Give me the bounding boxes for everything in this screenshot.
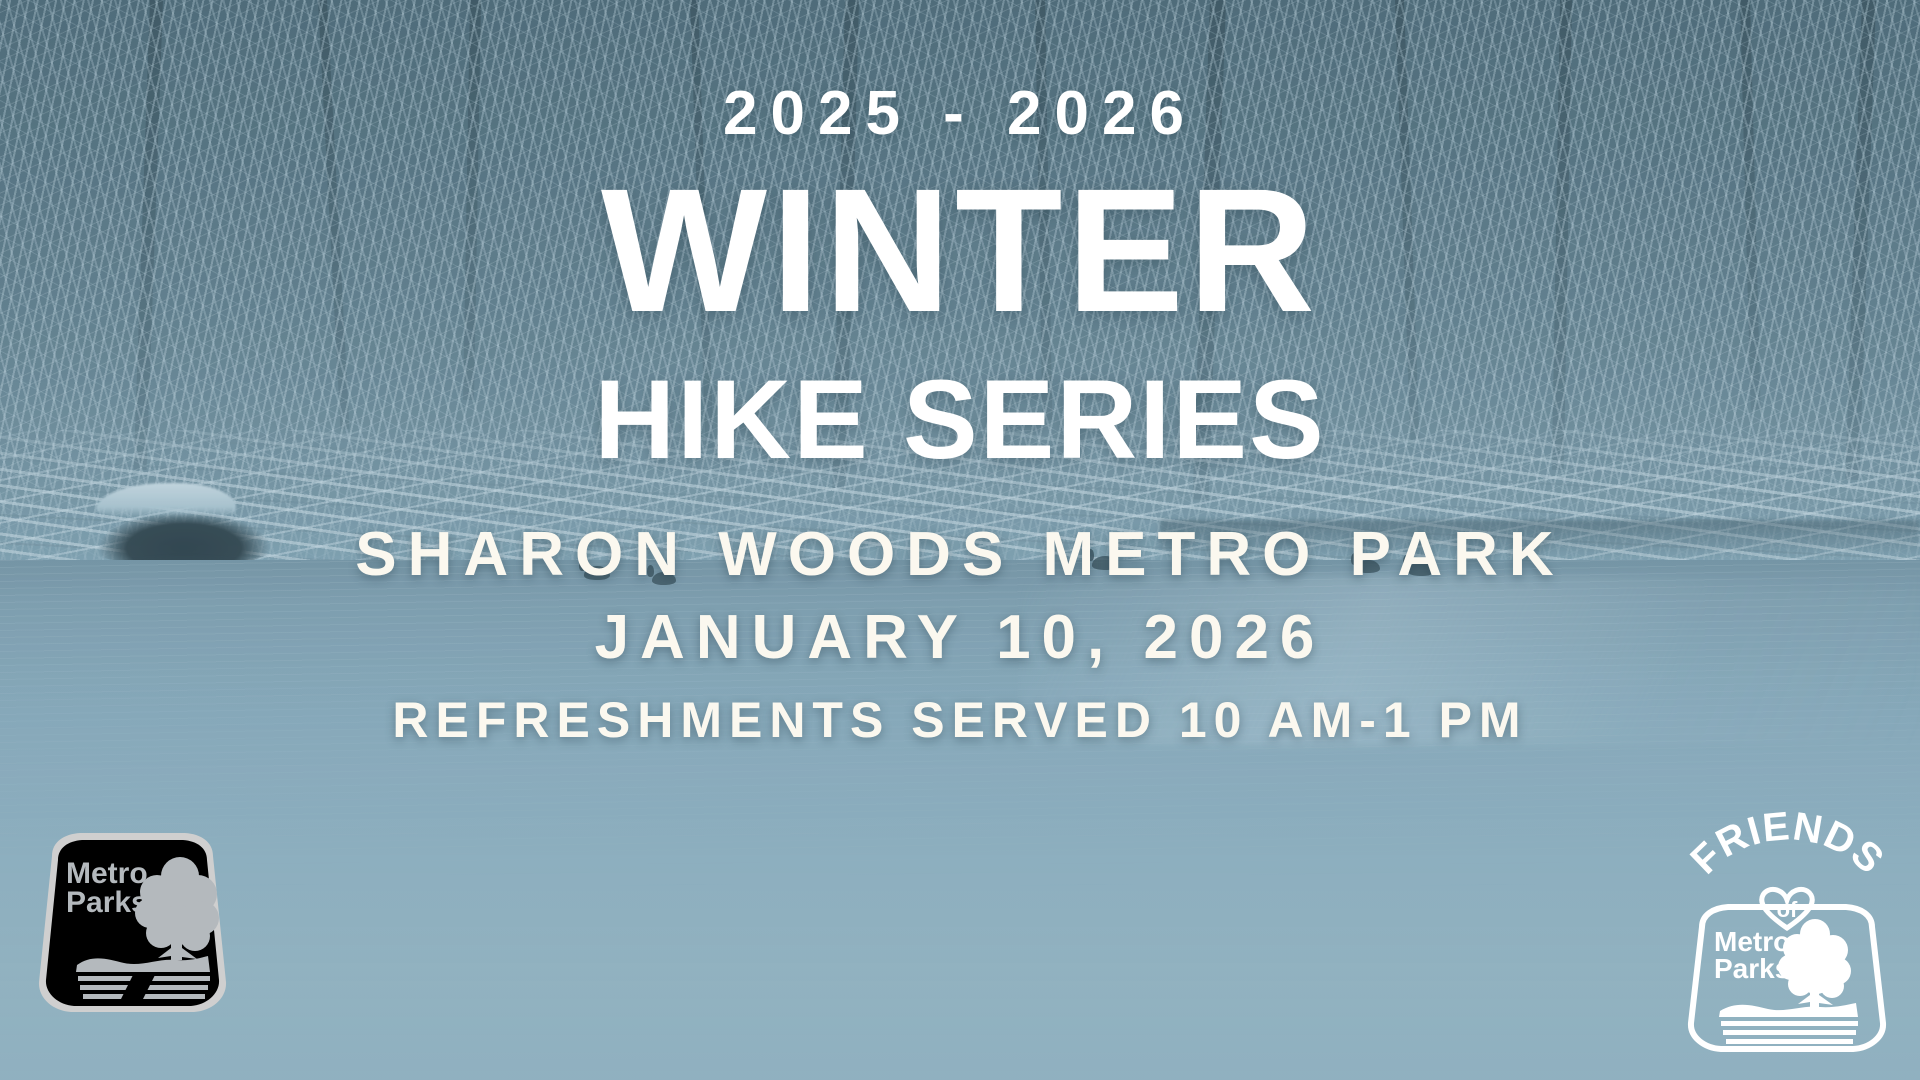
poster-text-content: 2025 - 2026 WINTER HIKE SERIES SHARON WO… — [0, 0, 1920, 1080]
friends-of-metro-parks-logo: FRIENDS of Metro Parks — [1680, 805, 1895, 1055]
event-venue: SHARON WOODS METRO PARK — [355, 519, 1564, 590]
winter-hike-series-poster: 2025 - 2026 WINTER HIKE SERIES SHARON WO… — [0, 0, 1920, 1080]
event-details: SHARON WOODS METRO PARK JANUARY 10, 2026… — [355, 519, 1564, 749]
event-date: JANUARY 10, 2026 — [595, 602, 1326, 673]
poster-subheadline: HIKE SERIES — [594, 367, 1326, 473]
poster-headline: WINTER — [601, 171, 1319, 333]
event-refreshments: REFRESHMENTS SERVED 10 AM-1 PM — [392, 691, 1527, 749]
friends-arc-text: FRIENDS — [1682, 805, 1892, 883]
year-range: 2025 - 2026 — [723, 78, 1197, 149]
metro-parks-logo: Metro Parks Metro Parks — [30, 830, 235, 1015]
